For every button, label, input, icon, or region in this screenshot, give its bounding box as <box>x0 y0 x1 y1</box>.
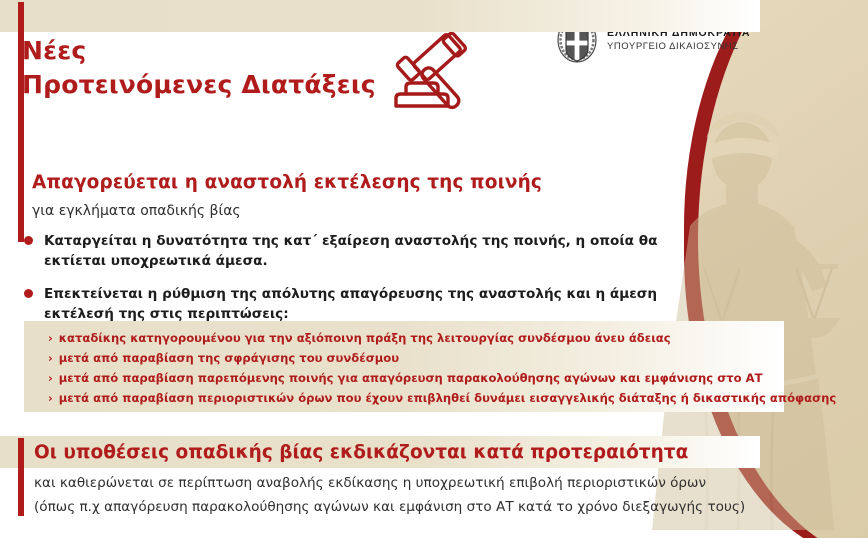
list-item: Επεκτείνεται η ρύθμιση της απόλυτης απαγ… <box>24 284 714 324</box>
emblem-line-2: ΥΠΟΥΡΓΕΙΟ ΔΙΚΑΙΟΣΥΝΗΣ <box>607 41 750 53</box>
section2-line-1: και καθιερώνεται σε περίπτωση αναβολής ε… <box>34 475 706 491</box>
title-line-1: Νέες <box>22 36 86 65</box>
section1-heading: Απαγορεύεται η αναστολή εκτέλεσης της πο… <box>32 172 542 193</box>
slide-root: Νέες Προτεινόμενες Διατάξεις <box>0 0 868 538</box>
subitem-text: καταδίκης κατηγορουμένου για την αξιόποι… <box>59 331 671 345</box>
title-line-2: Προτεινόμενες Διατάξεις <box>22 68 376 102</box>
list-item: Καταργείται η δυνατότητα της κατ΄ εξαίρε… <box>24 231 714 271</box>
bullet-text: Καταργείται η δυνατότητα της κατ΄ εξαίρε… <box>44 231 704 271</box>
section1-accent-bar <box>18 2 24 242</box>
section1-heading-band <box>0 0 760 32</box>
bullet-dot-icon <box>24 236 33 245</box>
section2-line-2: (όπως π.χ απαγόρευση παρακολούθησης αγών… <box>34 499 745 515</box>
list-item: › μετά από παραβίαση παρεπόμενης ποινής … <box>48 371 763 385</box>
subitem-text: μετά από παραβίαση της σφράγισης του συν… <box>59 351 399 365</box>
bullet-text: Επεκτείνεται η ρύθμιση της απόλυτης απαγ… <box>44 284 704 324</box>
chevron-right-icon: › <box>48 353 53 365</box>
list-item: › μετά από παραβίαση της σφράγισης του σ… <box>48 351 399 365</box>
gavel-icon <box>388 26 484 114</box>
chevron-right-icon: › <box>48 333 53 345</box>
subitem-text: μετά από παραβίαση περιοριστικών όρων πο… <box>59 391 836 405</box>
subitem-text: μετά από παραβίαση παρεπόμενης ποινής γι… <box>59 371 763 385</box>
list-item: › καταδίκης κατηγορουμένου για την αξιόπ… <box>48 331 671 345</box>
bullet-dot-icon <box>24 289 33 298</box>
section2-heading: Οι υποθέσεις οπαδικής βίας εκδικάζονται … <box>34 442 688 463</box>
chevron-right-icon: › <box>48 373 53 385</box>
chevron-right-icon: › <box>48 393 53 405</box>
section2-accent-bar <box>18 438 24 516</box>
section1-subheading: για εγκλήματα οπαδικής βίας <box>32 203 241 219</box>
page-title: Νέες Προτεινόμενες Διατάξεις <box>22 34 376 102</box>
list-item: › μετά από παραβίαση περιοριστικών όρων … <box>48 391 836 405</box>
